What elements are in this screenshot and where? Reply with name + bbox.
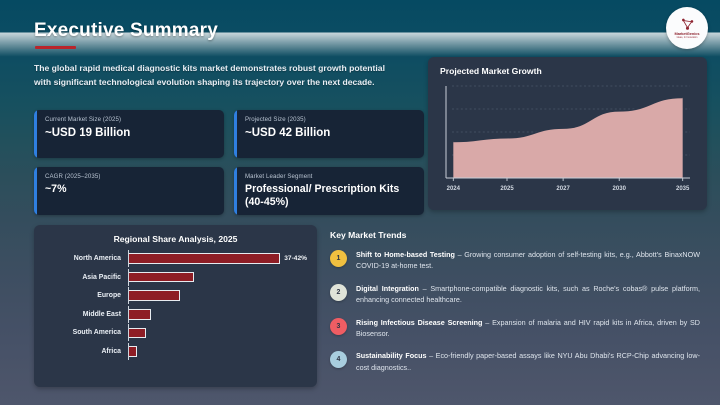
bar-row: Middle East <box>46 307 307 322</box>
bar-category-label: Asia Pacific <box>46 274 128 281</box>
regional-share-chart-panel: Regional Share Analysis, 2025 North Amer… <box>34 225 317 387</box>
bar-row: Asia Pacific <box>46 270 307 285</box>
bar-row: South America <box>46 325 307 340</box>
title-underline <box>35 46 76 49</box>
trend-text: Shift to Home-based Testing – Growing co… <box>356 249 700 272</box>
key-market-trends: Key Market Trends 1Shift to Home-based T… <box>330 230 700 384</box>
area-chart-x-axis: 20242025202720302035 <box>440 186 695 198</box>
page-title: Executive Summary <box>34 20 218 42</box>
bar-row: Europe <box>46 288 307 303</box>
projected-growth-chart-panel: Projected Market Growth 2024202520272030… <box>428 57 707 210</box>
logo-tagline: Ideas, In Innovation <box>677 36 698 39</box>
growth-chart-title: Projected Market Growth <box>440 66 695 76</box>
trend-heading: Sustainability Focus <box>356 351 426 360</box>
trend-heading: Rising Infectious Disease Screening <box>356 318 482 327</box>
bar-value-label: 37-42% <box>284 255 307 262</box>
bar-category-label: Middle East <box>46 311 128 318</box>
trend-number-badge: 2 <box>330 284 347 301</box>
bar <box>128 272 194 283</box>
area-x-tick-label: 2027 <box>556 186 569 192</box>
trend-text: Digital Integration – Smartphone-compati… <box>356 283 700 306</box>
stat-card-grid: Current Market Size (2025) ~USD 19 Billi… <box>34 110 424 224</box>
intro-paragraph: The global rapid medical diagnostic kits… <box>34 62 389 90</box>
bar <box>128 328 146 339</box>
stat-card-row: CAGR (2025–2035) ~7% Market Leader Segme… <box>34 167 424 215</box>
trend-heading: Digital Integration <box>356 284 419 293</box>
stat-card-value: ~USD 42 Billion <box>245 126 415 140</box>
stat-card-projected-size: Projected Size (2035) ~USD 42 Billion <box>234 110 424 158</box>
logo-name: MarketGenics <box>675 31 700 36</box>
horizontal-bar-chart: North America37-42%Asia PacificEuropeMid… <box>46 251 307 359</box>
stat-card-market-leader-segment: Market Leader Segment Professional/ Pres… <box>234 167 424 215</box>
stat-card-label: CAGR (2025–2035) <box>45 173 215 180</box>
area-x-tick-label: 2024 <box>447 186 460 192</box>
bar-track <box>128 288 307 303</box>
bar-track <box>128 307 307 322</box>
stat-card-value: ~7% <box>45 183 215 196</box>
slide-root: Executive Summary The global rapid medic… <box>0 0 720 405</box>
bar-category-label: Europe <box>46 292 128 299</box>
bar-category-label: Africa <box>46 348 128 355</box>
area-x-tick-label: 2025 <box>500 186 513 192</box>
bar <box>128 253 280 264</box>
stat-card-label: Market Leader Segment <box>245 173 415 180</box>
area-x-tick-label: 2035 <box>676 186 689 192</box>
bar-row: Africa <box>46 344 307 359</box>
trend-item: 4Sustainability Focus – Eco-friendly pap… <box>330 350 700 373</box>
bar-category-label: North America <box>46 255 128 262</box>
area-chart: 20242025202720302035 <box>440 80 695 198</box>
trend-item: 2Digital Integration – Smartphone-compat… <box>330 283 700 306</box>
bar-category-label: South America <box>46 329 128 336</box>
trend-number-badge: 1 <box>330 250 347 267</box>
area-x-tick-label: 2030 <box>613 186 626 192</box>
trend-text: Rising Infectious Disease Screening – Ex… <box>356 317 700 340</box>
bar <box>128 309 151 320</box>
trend-heading: Shift to Home-based Testing <box>356 250 455 259</box>
stat-card-cagr: CAGR (2025–2035) ~7% <box>34 167 224 215</box>
stat-card-label: Projected Size (2035) <box>245 116 415 123</box>
stat-card-value: ~USD 19 Billion <box>45 126 215 140</box>
network-node-icon <box>680 17 695 30</box>
bar-track: 37-42% <box>128 251 307 266</box>
bar <box>128 290 180 301</box>
bar-track <box>128 325 307 340</box>
bar-track <box>128 270 307 285</box>
brand-logo: MarketGenics Ideas, In Innovation <box>666 7 708 49</box>
stat-card-label: Current Market Size (2025) <box>45 116 215 123</box>
trend-item: 1Shift to Home-based Testing – Growing c… <box>330 249 700 272</box>
trend-number-badge: 4 <box>330 351 347 368</box>
region-chart-title: Regional Share Analysis, 2025 <box>44 234 307 244</box>
bar <box>128 346 137 357</box>
trend-number-badge: 3 <box>330 318 347 335</box>
stat-card-row: Current Market Size (2025) ~USD 19 Billi… <box>34 110 424 158</box>
area-chart-svg <box>440 80 695 186</box>
trend-item: 3Rising Infectious Disease Screening – E… <box>330 317 700 340</box>
bar-row: North America37-42% <box>46 251 307 266</box>
stat-card-value: Professional/ Prescription Kits (40-45%) <box>245 183 415 209</box>
trend-text: Sustainability Focus – Eco-friendly pape… <box>356 350 700 373</box>
stat-card-current-market-size: Current Market Size (2025) ~USD 19 Billi… <box>34 110 224 158</box>
bar-track <box>128 344 307 359</box>
trend-list: 1Shift to Home-based Testing – Growing c… <box>330 249 700 373</box>
trends-title: Key Market Trends <box>330 230 700 240</box>
